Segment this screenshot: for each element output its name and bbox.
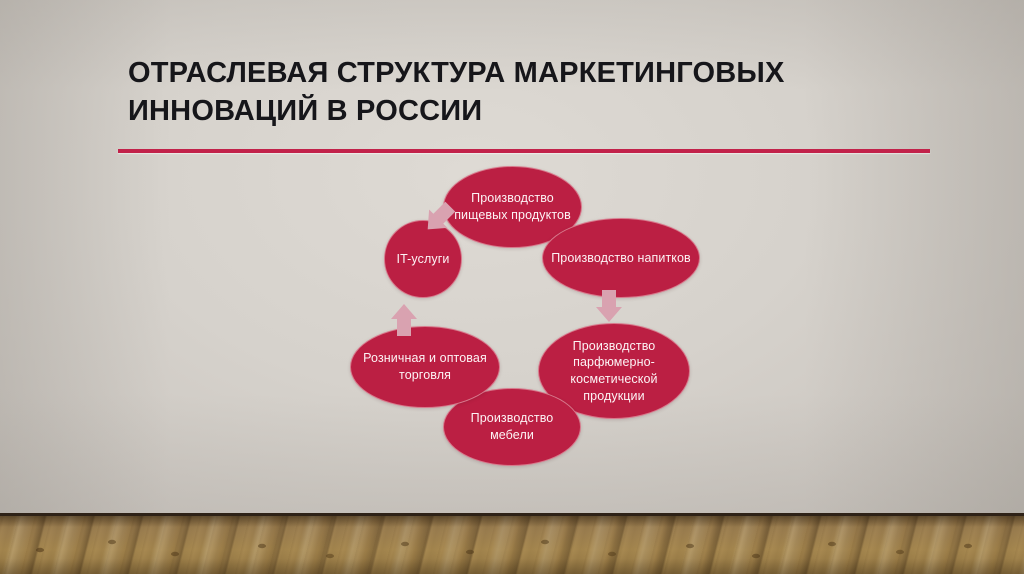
diagram-node-it-services-label: IT-услуги — [389, 251, 458, 268]
title-block: ОТРАСЛЕВАЯ СТРУКТУРА МАРКЕТИНГОВЫХ ИННОВ… — [128, 54, 868, 131]
wooden-floor — [0, 513, 1024, 574]
slide-title: ОТРАСЛЕВАЯ СТРУКТУРА МАРКЕТИНГОВЫХ ИННОВ… — [128, 54, 868, 131]
presentation-slide: ОТРАСЛЕВАЯ СТРУКТУРА МАРКЕТИНГОВЫХ ИННОВ… — [0, 0, 1024, 574]
arrow-shaft — [397, 318, 411, 336]
arrow-head — [391, 304, 417, 319]
diagram-node-drinks[interactable]: Производство напитков — [542, 218, 700, 298]
diagram-node-food-label: Производство пищевых продуктов — [444, 190, 581, 223]
diagram-node-it-services[interactable]: IT-услуги — [384, 220, 462, 298]
floor-shading — [0, 516, 1024, 574]
arrow-head — [596, 307, 622, 322]
diagram-node-furniture-label: Производство мебели — [444, 410, 580, 443]
arrow-drinks-to-perfume-icon — [596, 290, 622, 322]
diagram-node-retail[interactable]: Розничная и оптовая торговля — [350, 326, 500, 408]
cycle-diagram: Производство пищевых продуктов Производс… — [330, 158, 730, 488]
diagram-node-retail-label: Розничная и оптовая торговля — [351, 350, 499, 383]
diagram-node-perfume-label: Производство парфюмерно-косметической пр… — [539, 338, 689, 405]
title-divider-rule — [118, 149, 930, 153]
arrow-retail-to-it-icon — [391, 304, 417, 336]
arrow-shaft — [602, 290, 616, 308]
diagram-node-drinks-label: Производство напитков — [543, 250, 699, 267]
